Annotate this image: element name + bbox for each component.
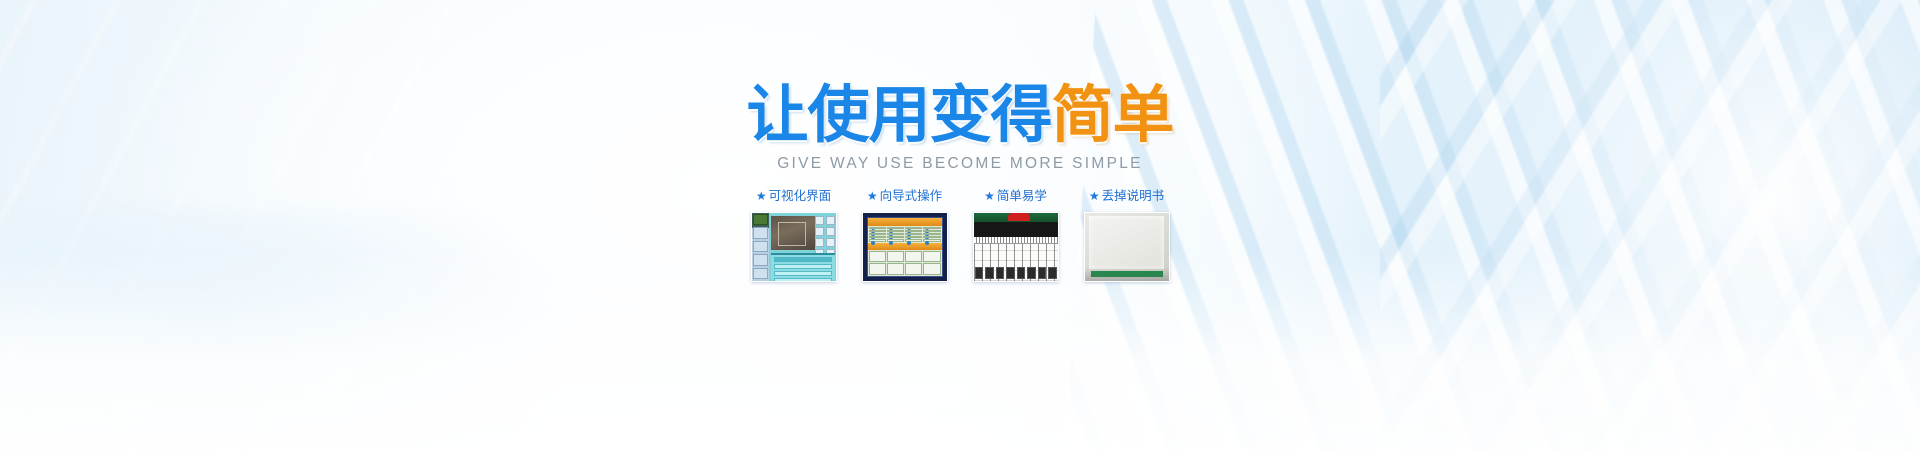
feature-item: ★ 丢掉说明书 <box>1084 190 1170 282</box>
wizard-header-bar <box>868 218 942 226</box>
wizard-section-bar <box>868 243 942 250</box>
connector <box>985 267 994 279</box>
wizard-menu-cell <box>887 227 904 229</box>
headline-accent-text: 简单 <box>1052 78 1174 151</box>
feature-label-text: 丢掉说明书 <box>1102 190 1165 203</box>
feature-item: ★ 可视化界面 <box>751 190 837 282</box>
subtitle: GIVE WAY USE BECOME MORE SIMPLE <box>777 155 1143 173</box>
connector <box>1048 267 1057 279</box>
wizard-menu-cell <box>887 230 904 232</box>
feature-label-text: 简单易学 <box>997 190 1047 203</box>
wizard-menu-cell <box>905 230 922 232</box>
wizard-menu-cell <box>887 239 904 241</box>
toy-car-shape <box>1008 213 1030 221</box>
star-icon: ★ <box>867 190 878 202</box>
wizard-screen <box>867 217 943 277</box>
promo-banner: 让使用变得简单 GIVE WAY USE BECOME MORE SIMPLE … <box>0 0 1920 450</box>
headline: 让使用变得简单 <box>746 84 1173 146</box>
hmi-left-button-column <box>752 213 769 281</box>
wizard-menu-cell <box>923 230 940 232</box>
wizard-action-cell <box>905 251 922 263</box>
hmi-photo-area <box>771 216 815 250</box>
wizard-menu-cell <box>869 230 886 232</box>
wizard-menu-cell <box>905 233 922 235</box>
board-dark-band <box>974 222 1058 237</box>
hmi-right-button <box>815 216 824 225</box>
wizard-action-cell <box>887 263 904 275</box>
connector <box>1038 267 1047 279</box>
wizard-menu-cell <box>905 236 922 238</box>
connector-row <box>975 267 1057 279</box>
feature-label: ★ 简单易学 <box>984 190 1047 203</box>
feature-item: ★ 简单易学 <box>973 190 1059 282</box>
feature-item: ★ 向导式操作 <box>862 190 948 282</box>
manual-paper-photo <box>1084 212 1170 282</box>
wizard-menu-screenshot <box>862 212 948 282</box>
feature-label: ★ 向导式操作 <box>867 190 942 203</box>
wizard-action-cell <box>905 263 922 275</box>
hmi-left-button <box>753 227 768 239</box>
wizard-menu-cell <box>905 227 922 229</box>
wizard-action-cell <box>923 263 940 275</box>
wizard-menu-cell <box>887 236 904 238</box>
wizard-menu-cell <box>869 233 886 235</box>
visual-interface-screenshot <box>751 212 837 282</box>
hmi-options-panel <box>771 253 835 280</box>
hmi-panel-titlebar <box>774 257 832 262</box>
feature-label-text: 可视化界面 <box>769 190 832 203</box>
star-icon: ★ <box>984 190 995 202</box>
feature-label: ★ 可视化界面 <box>756 190 831 203</box>
hmi-left-button <box>753 241 768 253</box>
star-icon: ★ <box>1089 190 1100 202</box>
hmi-right-button <box>826 238 835 247</box>
wizard-menu-cell <box>869 236 886 238</box>
wizard-menu-cell <box>869 239 886 241</box>
hmi-right-button <box>815 227 824 236</box>
star-icon: ★ <box>756 190 767 202</box>
feature-list: ★ 可视化界面 <box>751 190 1170 282</box>
hmi-right-button <box>826 227 835 236</box>
wizard-action-cell <box>869 251 886 263</box>
connector <box>1017 267 1026 279</box>
paper-sheet <box>1089 216 1164 269</box>
wizard-menu-cell <box>869 227 886 229</box>
feature-label: ★ 丢掉说明书 <box>1089 190 1164 203</box>
hmi-panel-option <box>774 278 832 282</box>
connector <box>975 267 984 279</box>
connector <box>1006 267 1015 279</box>
paper-shadow <box>1085 267 1169 281</box>
wizard-menu-grid <box>868 226 942 243</box>
wizard-action-cell <box>887 251 904 263</box>
hmi-left-button <box>753 268 768 280</box>
hmi-right-button <box>815 238 824 247</box>
wizard-menu-cell <box>923 233 940 235</box>
board-scale-strip <box>974 237 1058 244</box>
connector <box>1027 267 1036 279</box>
feature-label-text: 向导式操作 <box>880 190 943 203</box>
hmi-right-button <box>826 216 835 225</box>
hmi-left-button <box>753 254 768 266</box>
wizard-action-grid <box>868 250 942 276</box>
hmi-panel-option <box>774 271 832 276</box>
hmi-left-button <box>753 214 768 226</box>
connector <box>996 267 1005 279</box>
wizard-action-cell <box>923 251 940 263</box>
wizard-menu-cell <box>923 239 940 241</box>
wizard-action-cell <box>869 263 886 275</box>
wizard-menu-cell <box>923 236 940 238</box>
wizard-menu-cell <box>887 233 904 235</box>
headline-primary-text: 让使用变得 <box>746 78 1051 151</box>
hmi-panel-option <box>774 264 832 269</box>
connector-board-photo <box>973 212 1059 282</box>
wizard-menu-cell <box>905 239 922 241</box>
wizard-menu-cell <box>923 227 940 229</box>
hmi-right-button-grid <box>815 216 835 252</box>
banner-content: 让使用变得简单 GIVE WAY USE BECOME MORE SIMPLE … <box>0 0 1920 450</box>
